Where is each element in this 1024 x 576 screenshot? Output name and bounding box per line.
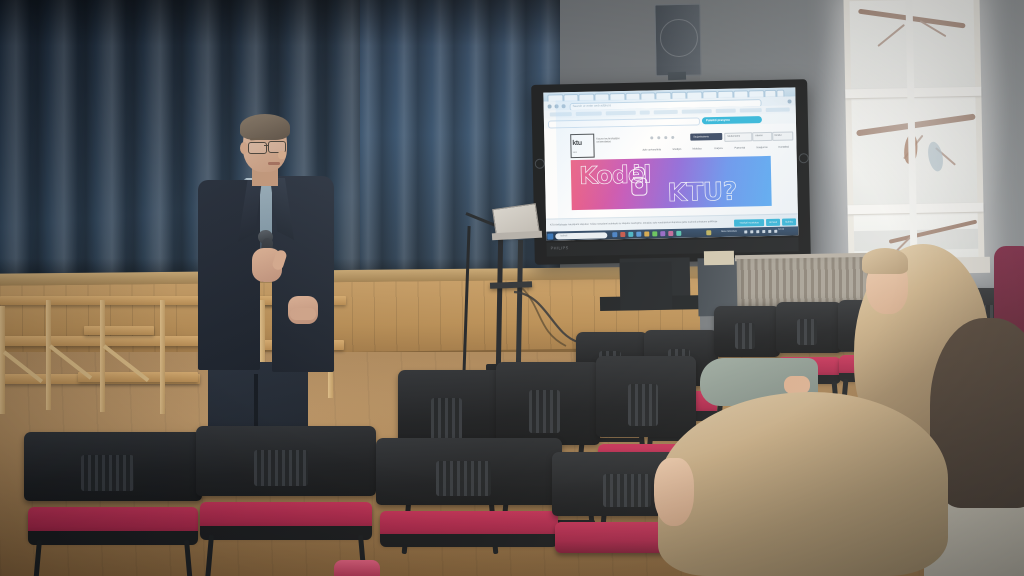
- taskbar-app-icon[interactable]: [644, 231, 649, 236]
- chair[interactable]: [24, 432, 202, 576]
- cookie-consent-text: KTU tinklalapyje naudojami slapukai. Tol…: [550, 220, 730, 227]
- taskbar-app-icon[interactable]: [706, 230, 711, 235]
- photo-scene: Search or enter web address Pateikti pra…: [0, 0, 1024, 576]
- presenter-fingers: [290, 308, 316, 320]
- search-icon[interactable]: [657, 136, 660, 139]
- taskbar-app-icon[interactable]: [636, 231, 641, 236]
- hero-banner: Kodėl KTU? Atrask KTU vertus »: [571, 156, 772, 210]
- ktu-org-name: Kauno technologijos universitetas: [596, 137, 624, 144]
- person-figure-icon: [633, 167, 645, 176]
- chair-back: [376, 438, 562, 505]
- taskbar-app-icon[interactable]: [612, 232, 617, 237]
- glasses-icon: [248, 142, 267, 154]
- bench-leg: [100, 300, 105, 412]
- audience-hair-front: [862, 248, 908, 274]
- chair-seat-lip: [28, 531, 199, 545]
- bookmark-item[interactable]: [640, 110, 650, 114]
- wifi-icon[interactable]: [774, 229, 777, 233]
- cabinet-top-box: [704, 251, 734, 266]
- taskbar-app-icon[interactable]: [668, 231, 673, 236]
- bookmark-item[interactable]: [654, 110, 678, 115]
- display-brand-label: PHILIPS: [551, 245, 569, 250]
- display-knob-left: [535, 159, 545, 169]
- tray-icon[interactable]: [744, 230, 747, 234]
- speaker-mount: [668, 72, 686, 81]
- language-icon[interactable]: [650, 136, 653, 139]
- cookie-reject-button[interactable]: Atmesti: [766, 219, 780, 226]
- presenter-hair: [240, 114, 290, 140]
- taskbar-search-placeholder: Ieskoti: [560, 234, 567, 237]
- bookmark-item[interactable]: [576, 111, 602, 116]
- menu-icon[interactable]: [671, 136, 674, 139]
- tray-icon[interactable]: [762, 230, 765, 234]
- chair[interactable]: [196, 426, 376, 576]
- browser-menu-icon[interactable]: [787, 99, 791, 103]
- presenter: [196, 118, 346, 376]
- chair-seat-lip: [200, 526, 373, 540]
- bench-plank: [84, 326, 154, 335]
- taskbar-app-icon[interactable]: [652, 231, 657, 236]
- bench-leg: [0, 306, 5, 414]
- floor-object-pink: [334, 560, 380, 576]
- presenter-nose: [278, 151, 286, 159]
- display-bezel-bottom: [546, 237, 798, 256]
- bookmark-item[interactable]: [550, 112, 572, 116]
- chair-back: [776, 302, 842, 353]
- browser-back-icon[interactable]: [548, 104, 552, 108]
- subnav-item[interactable]: Kontaktai: [778, 146, 788, 149]
- display-screen[interactable]: Search or enter web address Pateikti pra…: [543, 87, 798, 240]
- chair-leg: [205, 535, 214, 576]
- cookie-accept-button[interactable]: Sutinku: [782, 218, 796, 225]
- tray-icon[interactable]: [750, 230, 753, 234]
- subnav-item[interactable]: Mokslas: [692, 147, 701, 150]
- bench-leg: [160, 300, 165, 414]
- taskbar-app-icon[interactable]: [660, 231, 665, 236]
- subnav-item[interactable]: Naujienos: [756, 146, 767, 149]
- browser-reload-icon[interactable]: [562, 104, 566, 108]
- chair-leg: [184, 540, 193, 576]
- cookie-manage-button[interactable]: Tvarkyti nuostatas: [734, 219, 764, 227]
- nav-pill-label: Studentams: [727, 135, 740, 138]
- chair[interactable]: [376, 438, 562, 576]
- taskbar-user-label[interactable]: Mes mokomes: [721, 230, 737, 233]
- chair-back: [496, 362, 600, 445]
- bookmark-item[interactable]: [606, 111, 636, 116]
- taskbar-app-icon[interactable]: [676, 231, 681, 236]
- presenter-mouth: [268, 162, 280, 165]
- nav-pill-label: Stojantiesiems: [693, 135, 709, 138]
- taskbar-clock[interactable]: 10:42: [778, 229, 784, 231]
- ktu-logo-year: 1922: [573, 152, 577, 154]
- nav-pill-label: Verslui: [774, 134, 781, 137]
- bookmark-item[interactable]: [766, 108, 790, 113]
- audience-hair: [658, 392, 948, 576]
- browser-forward-icon[interactable]: [555, 104, 559, 108]
- audience-face: [654, 458, 694, 526]
- nav-pill-label: Alumni: [755, 134, 762, 137]
- presenter-ear: [240, 142, 248, 154]
- apply-cta-label: Pateikti prasyma: [706, 118, 730, 122]
- subnav-item[interactable]: Apie universiteta: [643, 148, 662, 151]
- audience-member-foreground: [658, 392, 958, 576]
- subnav-item[interactable]: Karjera: [714, 147, 722, 150]
- chair-back: [196, 426, 376, 496]
- chair-back: [24, 432, 202, 501]
- windows-start-icon[interactable]: [547, 233, 553, 239]
- ktu-website: ktu 1922 Kauno technologijos universitet…: [544, 123, 798, 240]
- bookmark-item[interactable]: [716, 109, 736, 113]
- display-knob-right: [799, 153, 809, 163]
- user-icon[interactable]: [664, 136, 667, 139]
- banner-headline-ktu: KTU?: [667, 177, 737, 207]
- tray-icon[interactable]: [756, 230, 759, 234]
- subnav-item[interactable]: Partneriai: [734, 146, 745, 149]
- tray-icon[interactable]: [768, 229, 771, 233]
- pc-tower: [620, 262, 673, 311]
- bookmark-item[interactable]: [682, 109, 712, 114]
- browser-url-text: Search or enter web address: [573, 103, 612, 108]
- wall-speaker: [654, 4, 701, 77]
- bench-leg: [46, 300, 51, 410]
- ktu-logo-text: ktu: [572, 140, 581, 147]
- curtain-top-shadow: [0, 0, 560, 46]
- subnav-item[interactable]: Studijos: [672, 148, 681, 151]
- glasses-bridge-icon: [264, 145, 269, 146]
- taskbar-app-icon[interactable]: [620, 232, 625, 237]
- taskbar-app-icon[interactable]: [628, 232, 633, 237]
- bookmark-item[interactable]: [740, 108, 762, 112]
- presentation-display[interactable]: Search or enter web address Pateikti pra…: [531, 79, 811, 265]
- chair-leg: [33, 540, 42, 576]
- speaker-cone-icon: [660, 19, 699, 58]
- chair-seat-lip: [380, 534, 559, 547]
- chair-back: [714, 306, 780, 357]
